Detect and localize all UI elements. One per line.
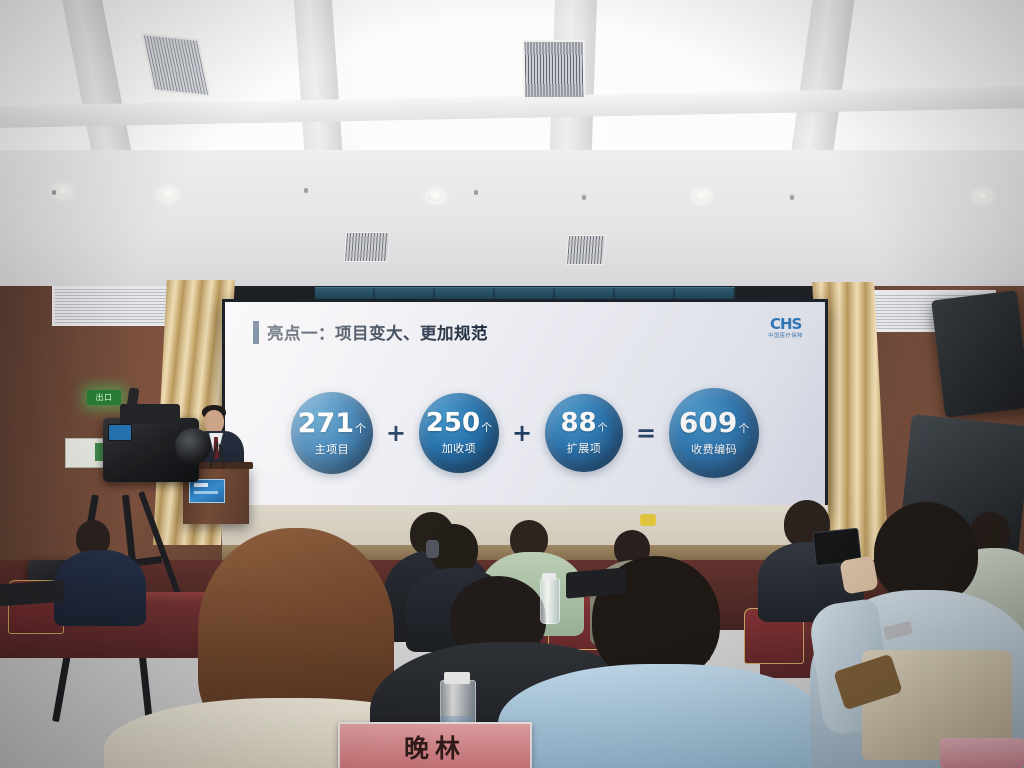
stat-unit: 个 (355, 423, 366, 434)
stat-bubble-surcharge-items: 250个 加收项 (419, 393, 499, 473)
sprinkler-icon (790, 195, 794, 200)
stat-number: 250 (426, 410, 480, 436)
ceiling (0, 0, 1024, 300)
downlight-icon (160, 190, 175, 199)
exit-sign: 出口 (87, 390, 121, 405)
person-head (874, 502, 978, 604)
stat-value: 88个 (560, 410, 607, 436)
downlight-icon (694, 192, 709, 201)
logo-subtitle: 中国医疗保障 (768, 334, 803, 339)
exit-sign-label: 出口 (96, 394, 113, 402)
stat-bubble-main-items: 271个 主项目 (291, 392, 373, 474)
person-torso (498, 664, 828, 768)
stat-number: 88 (560, 410, 596, 436)
stat-label: 加收项 (442, 440, 477, 456)
slide: 亮点一：项目变大、更加规范 CHS 中国医疗保障 271个 主项目 + 250个 (225, 302, 825, 509)
stat-bubble-extended-items: 88个 扩展项 (545, 394, 623, 472)
bottle-cap (542, 573, 556, 580)
stat-unit: 个 (738, 423, 749, 434)
bottle-cap (444, 672, 470, 684)
laptop (566, 567, 626, 598)
stat-value: 271个 (298, 410, 366, 437)
downlight-icon (975, 192, 990, 201)
ac-vent-icon (522, 40, 585, 99)
stat-value: 609个 (679, 409, 749, 437)
projection-screen: 亮点一：项目变大、更加规范 CHS 中国医疗保障 271个 主项目 + 250个 (222, 299, 828, 512)
sprinkler-icon (304, 188, 308, 193)
operator-plus-1: + (386, 421, 406, 445)
hair-clip-icon (640, 514, 656, 526)
name-placard-text: 晚林 (404, 729, 466, 765)
chs-logo: CHS 中国医疗保障 (768, 317, 803, 339)
water-bottle (540, 578, 560, 624)
wall-speaker (931, 290, 1024, 418)
person-hand (839, 555, 878, 594)
stat-number: 609 (679, 409, 737, 437)
laptop (0, 580, 64, 606)
operator-plus-2: + (512, 421, 532, 445)
ceiling-soffit (0, 150, 1024, 300)
ac-vent-icon (344, 232, 390, 262)
downlight-icon (55, 187, 70, 196)
person-torso (54, 550, 146, 626)
stat-unit: 个 (598, 424, 608, 434)
wall-notice-mark (95, 443, 103, 461)
audience-foreground-blue-shirt (520, 556, 810, 768)
stat-unit: 个 (481, 422, 492, 433)
slide-title-row: 亮点一：项目变大、更加规范 (253, 320, 488, 344)
operator-equals: = (636, 421, 656, 445)
speaker-head (204, 410, 224, 433)
sprinkler-icon (474, 190, 478, 195)
stat-bubble-billing-codes: 609个 收费编码 (669, 388, 759, 478)
sprinkler-icon (52, 190, 56, 195)
downlight-icon (428, 192, 443, 201)
stat-label: 收费编码 (691, 441, 737, 457)
sprinkler-icon (582, 195, 586, 200)
stat-value: 250个 (426, 410, 492, 436)
conference-photo: 出口 .exit-sign{left:87px;top:390px;} 亮点一：… (0, 0, 1024, 768)
ceiling-light-panel (603, 0, 821, 170)
podium-sign (189, 479, 225, 503)
formula-row: 271个 主项目 + 250个 加收项 + 88个 扩展项 (225, 374, 825, 492)
name-placard: 晚林 (338, 722, 532, 768)
pink-folder (940, 738, 1024, 768)
camera-lens-icon (175, 428, 211, 464)
stat-label: 扩展项 (567, 440, 602, 456)
title-accent-bar (253, 321, 259, 344)
stat-label: 主项目 (315, 441, 350, 457)
stat-number: 271 (298, 410, 354, 437)
page-title: 亮点一：项目变大、更加规范 (267, 320, 488, 344)
camera-monitor (108, 424, 132, 441)
ac-vent-icon (566, 235, 606, 265)
logo-mark: CHS (768, 317, 803, 332)
